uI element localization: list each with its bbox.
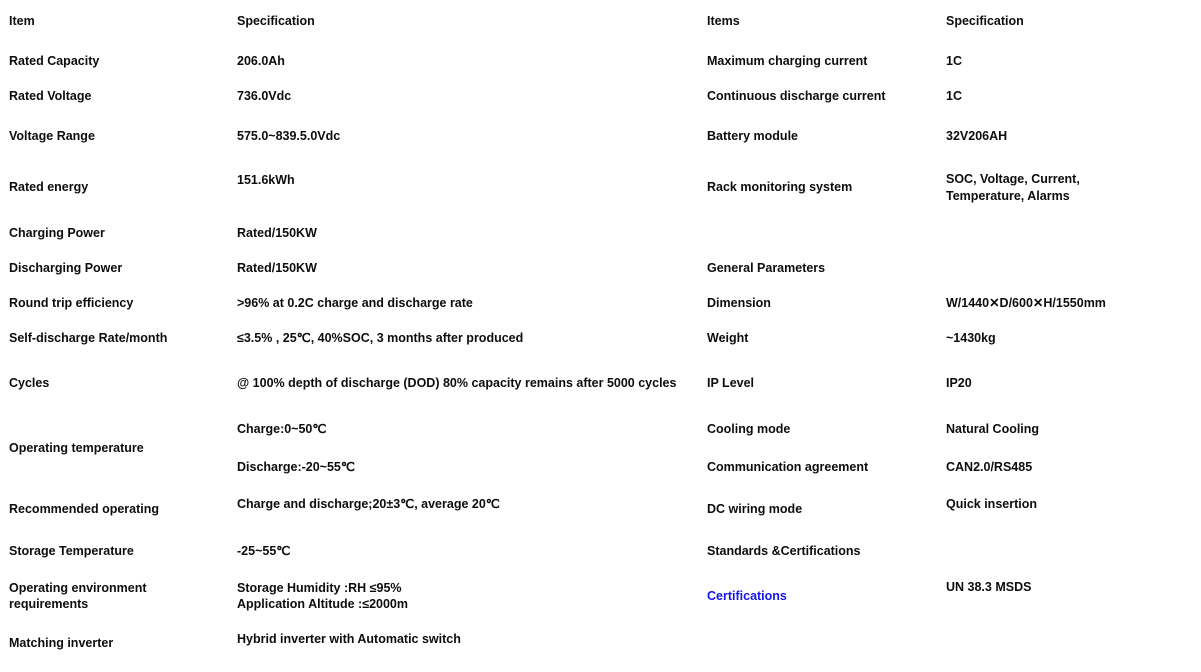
row-label [698, 624, 935, 662]
table-row: Matching inverter Hybrid inverter with A… [0, 624, 700, 662]
row-value: Rated/150KW [228, 217, 700, 250]
row-value: 736.0Vdc [228, 80, 700, 113]
row-value: ~1430kg [937, 322, 1201, 355]
row-label: Voltage Range [0, 115, 226, 158]
row-label: Recommended operating [0, 487, 226, 532]
row-value: UN 38.3 MSDS [937, 570, 1201, 622]
row-label: Cycles [0, 357, 226, 409]
table-row: Maximum charging current 1C [698, 45, 1201, 78]
header-items: Items [698, 0, 935, 43]
row-value: Rated/150KW [228, 252, 700, 285]
table-row: Storage Temperature -25~55℃ [0, 534, 700, 568]
row-value: CAN2.0/RS485 [937, 449, 1201, 485]
row-label: Rated energy [0, 160, 226, 215]
row-label: Discharging Power [0, 252, 226, 285]
row-value: Natural Cooling [937, 411, 1201, 447]
row-value-line: Temperature, Alarms [946, 188, 1195, 205]
table-row: Self-discharge Rate/month ≤3.5% , 25℃, 4… [0, 322, 700, 355]
row-label: Dimension [698, 287, 935, 320]
row-label: Rated Capacity [0, 45, 226, 78]
row-label: Maximum charging current [698, 45, 935, 78]
header-item: Item [0, 0, 226, 43]
row-value: 1C [937, 80, 1201, 113]
row-value: Storage Humidity :RH ≤95% Application Al… [228, 570, 700, 622]
table-header-row: Item Specification [0, 0, 700, 43]
row-value-charge-temp: Charge:0~50℃ [228, 411, 700, 447]
row-label: Continuous discharge current [698, 80, 935, 113]
row-label: Matching inverter [0, 624, 226, 662]
row-label: Storage Temperature [0, 534, 226, 568]
row-value: Hybrid inverter with Automatic switch [228, 624, 700, 662]
section-header-standards-certifications: Standards &Certifications [698, 534, 935, 568]
table-row: Continuous discharge current 1C [698, 80, 1201, 113]
row-label: Battery module [698, 115, 935, 158]
row-value-line: Storage Humidity :RH ≤95% [237, 580, 692, 597]
row-value: 32V206AH [937, 115, 1201, 158]
row-value: 575.0~839.5.0Vdc [228, 115, 700, 158]
row-label: Communication agreement [698, 449, 935, 485]
row-value [937, 217, 1201, 250]
row-value-line: SOC, Voltage, Current, [946, 171, 1195, 188]
table-row: Certifications UN 38.3 MSDS [698, 570, 1201, 622]
table-row: Rated energy 151.6kWh [0, 160, 700, 215]
row-value: -25~55℃ [228, 534, 700, 568]
row-value: 1C [937, 45, 1201, 78]
table-row: Weight ~1430kg [698, 322, 1201, 355]
row-value: >96% at 0.2C charge and discharge rate [228, 287, 700, 320]
table-row: Cycles @ 100% depth of discharge (DOD) 8… [0, 357, 700, 409]
section-header-general-parameters: General Parameters [698, 252, 935, 285]
row-value: ≤3.5% , 25℃, 40%SOC, 3 months after prod… [228, 322, 700, 355]
table-row: Round trip efficiency >96% at 0.2C charg… [0, 287, 700, 320]
table-row: Dimension W/1440✕D/600✕H/1550mm [698, 287, 1201, 320]
table-row: Operating temperature Charge:0~50℃ [0, 411, 700, 447]
table-row: Operating environment requirements Stora… [0, 570, 700, 622]
table-row: Charging Power Rated/150KW [0, 217, 700, 250]
table-row: Rated Voltage 736.0Vdc [0, 80, 700, 113]
table-row: Battery module 32V206AH [698, 115, 1201, 158]
row-value: Charge and discharge;20±3℃, average 20℃ [228, 487, 700, 532]
table-row-blank [698, 217, 1201, 250]
row-value: SOC, Voltage, Current, Temperature, Alar… [937, 160, 1201, 215]
row-label: Weight [698, 322, 935, 355]
section-header-value [937, 252, 1201, 285]
row-label: Rated Voltage [0, 80, 226, 113]
spec-sheet: Item Specification Rated Capacity 206.0A… [0, 0, 1201, 672]
row-value: Quick insertion [937, 487, 1201, 532]
row-value: IP20 [937, 357, 1201, 409]
section-header-value [937, 534, 1201, 568]
table-row: Communication agreement CAN2.0/RS485 [698, 449, 1201, 485]
row-label-certifications: Certifications [698, 570, 935, 622]
table-row: DC wiring mode Quick insertion [698, 487, 1201, 532]
table-row: Cooling mode Natural Cooling [698, 411, 1201, 447]
row-label-line: Operating environment requirements [9, 580, 218, 613]
table-row: Voltage Range 575.0~839.5.0Vdc [0, 115, 700, 158]
right-spec-table: Items Specification Maximum charging cur… [696, 0, 1201, 664]
table-row: Rack monitoring system SOC, Voltage, Cur… [698, 160, 1201, 215]
row-value [937, 624, 1201, 662]
table-row: Discharging Power Rated/150KW [0, 252, 700, 285]
row-value-discharge-temp: Discharge:-20~55℃ [228, 449, 700, 485]
table-row: IP Level IP20 [698, 357, 1201, 409]
table-row-section: General Parameters [698, 252, 1201, 285]
left-spec-table: Item Specification Rated Capacity 206.0A… [0, 0, 702, 664]
header-specification: Specification [228, 0, 700, 43]
row-label: Self-discharge Rate/month [0, 322, 226, 355]
header-specification: Specification [937, 0, 1201, 43]
row-value: 151.6kWh [228, 160, 700, 215]
table-row: Rated Capacity 206.0Ah [0, 45, 700, 78]
table-row: Recommended operating Charge and dischar… [0, 487, 700, 532]
row-label: Rack monitoring system [698, 160, 935, 215]
row-value: W/1440✕D/600✕H/1550mm [937, 287, 1201, 320]
row-label: Cooling mode [698, 411, 935, 447]
row-value-line: Application Altitude :≤2000m [237, 596, 692, 613]
row-label-operating-temperature: Operating temperature [0, 411, 226, 485]
row-label [698, 217, 935, 250]
row-value: @ 100% depth of discharge (DOD) 80% capa… [228, 357, 700, 409]
row-label: DC wiring mode [698, 487, 935, 532]
table-row-blank [698, 624, 1201, 662]
right-spec-table-panel: Items Specification Maximum charging cur… [698, 0, 1201, 672]
left-spec-table-panel: Item Specification Rated Capacity 206.0A… [0, 0, 698, 672]
table-header-row: Items Specification [698, 0, 1201, 43]
row-value: 206.0Ah [228, 45, 700, 78]
row-label: Charging Power [0, 217, 226, 250]
table-row-section: Standards &Certifications [698, 534, 1201, 568]
row-label: IP Level [698, 357, 935, 409]
row-label: Operating environment requirements [0, 570, 226, 622]
row-label: Round trip efficiency [0, 287, 226, 320]
